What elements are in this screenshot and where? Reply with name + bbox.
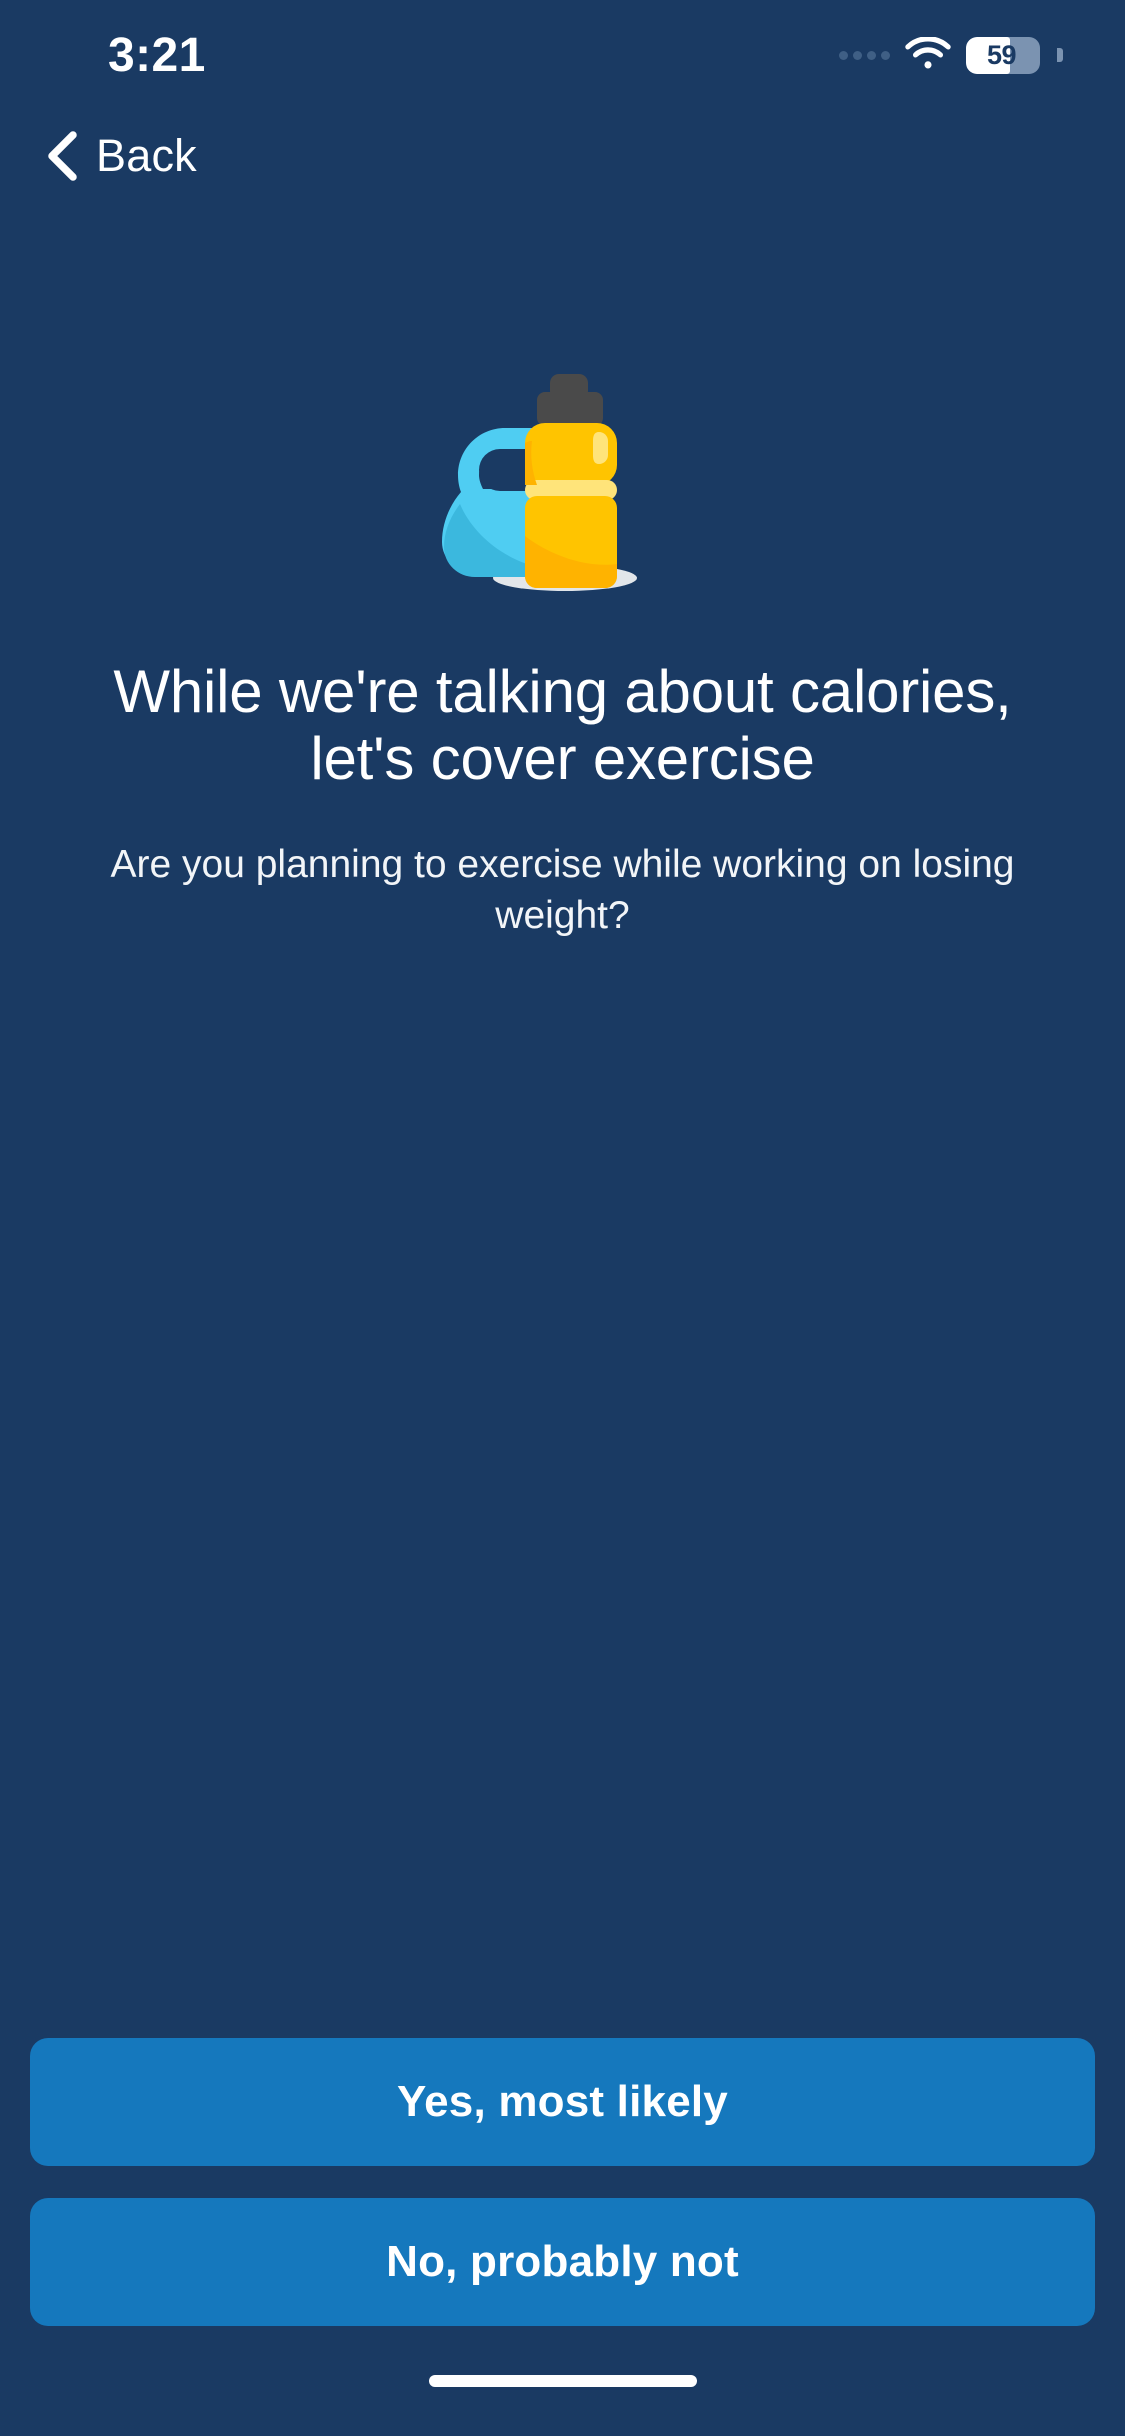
battery-percent-label: 59 <box>966 40 1040 71</box>
app-screen: 3:21 59 <box>0 0 1125 2436</box>
hero-section: While we're talking about calories, let'… <box>0 216 1125 942</box>
answer-yes-button[interactable]: Yes, most likely <box>30 2038 1095 2166</box>
home-indicator[interactable] <box>429 2375 697 2387</box>
page-subtitle: Are you planning to exercise while worki… <box>83 840 1043 941</box>
chevron-left-icon <box>44 131 78 181</box>
answer-no-button[interactable]: No, probably not <box>30 2198 1095 2326</box>
signal-dots-icon <box>839 51 890 60</box>
back-button[interactable]: Back <box>30 116 219 196</box>
back-button-label: Back <box>96 130 197 182</box>
answer-yes-label: Yes, most likely <box>397 2077 728 2127</box>
battery-icon: 59 <box>966 37 1040 74</box>
flexible-spacer <box>0 942 1125 2038</box>
kettlebell-and-water-bottle-illustration <box>413 366 713 596</box>
status-bar-indicators: 59 <box>839 0 1063 96</box>
navigation-bar: Back <box>0 96 1125 216</box>
battery-cap-icon <box>1057 48 1063 62</box>
home-indicator-area <box>0 2326 1125 2436</box>
answer-no-label: No, probably not <box>386 2237 739 2287</box>
answer-options: Yes, most likely No, probably not <box>0 2038 1125 2326</box>
status-bar: 3:21 59 <box>0 0 1125 96</box>
wifi-icon <box>904 37 952 73</box>
page-title: While we're talking about calories, let'… <box>60 658 1065 792</box>
